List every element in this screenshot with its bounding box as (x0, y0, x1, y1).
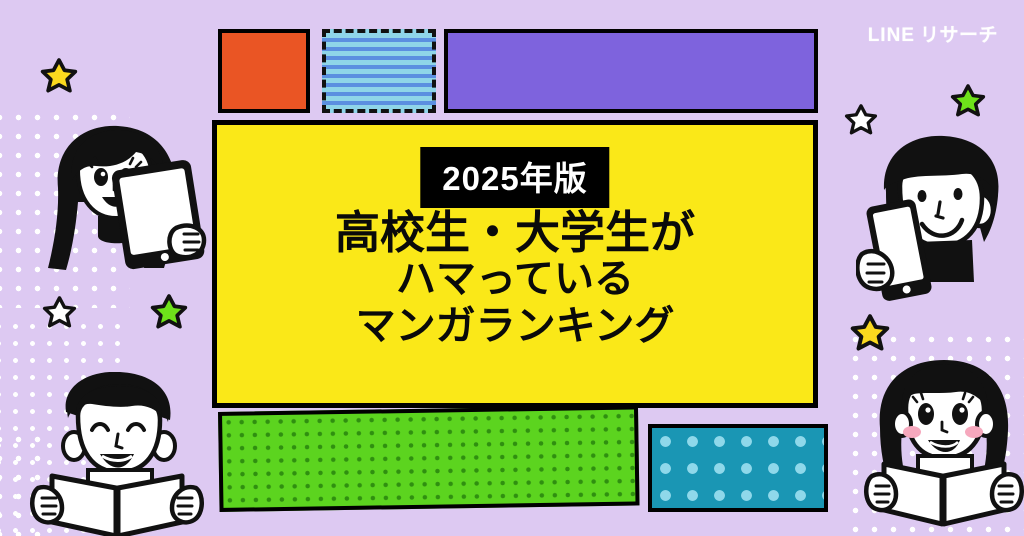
year-badge: 2025年版 (420, 147, 609, 208)
line-research-logo: LINEリサーチ (868, 20, 998, 47)
boy-with-smartphone-illustration (856, 132, 1024, 307)
green-dotted-block (218, 405, 640, 512)
girl-reading-book-illustration (862, 352, 1024, 536)
teal-dotted-block (648, 424, 828, 512)
star-icon (952, 84, 984, 116)
boy-reading-book-illustration (22, 372, 212, 536)
star-icon (152, 294, 186, 328)
purple-block (444, 29, 818, 113)
line-logo-suffix: リサーチ (920, 25, 998, 46)
star-icon (42, 58, 76, 92)
girl-with-tablet-illustration (18, 118, 218, 298)
orange-block (218, 29, 310, 113)
headline-line-3: マンガランキング (217, 303, 813, 350)
main-title-panel: 2025年版 高校生・大学生が ハマっている マンガランキング (212, 120, 818, 408)
headline-line-1: 高校生・大学生が (217, 209, 813, 256)
striped-block (322, 29, 436, 113)
page-title: 高校生・大学生が ハマっている マンガランキング (217, 209, 813, 351)
headline-line-2: ハマっている (217, 256, 813, 303)
star-icon (846, 104, 876, 134)
line-logo-mark: LINE (868, 25, 915, 46)
star-icon (44, 296, 75, 327)
star-icon (852, 314, 888, 350)
